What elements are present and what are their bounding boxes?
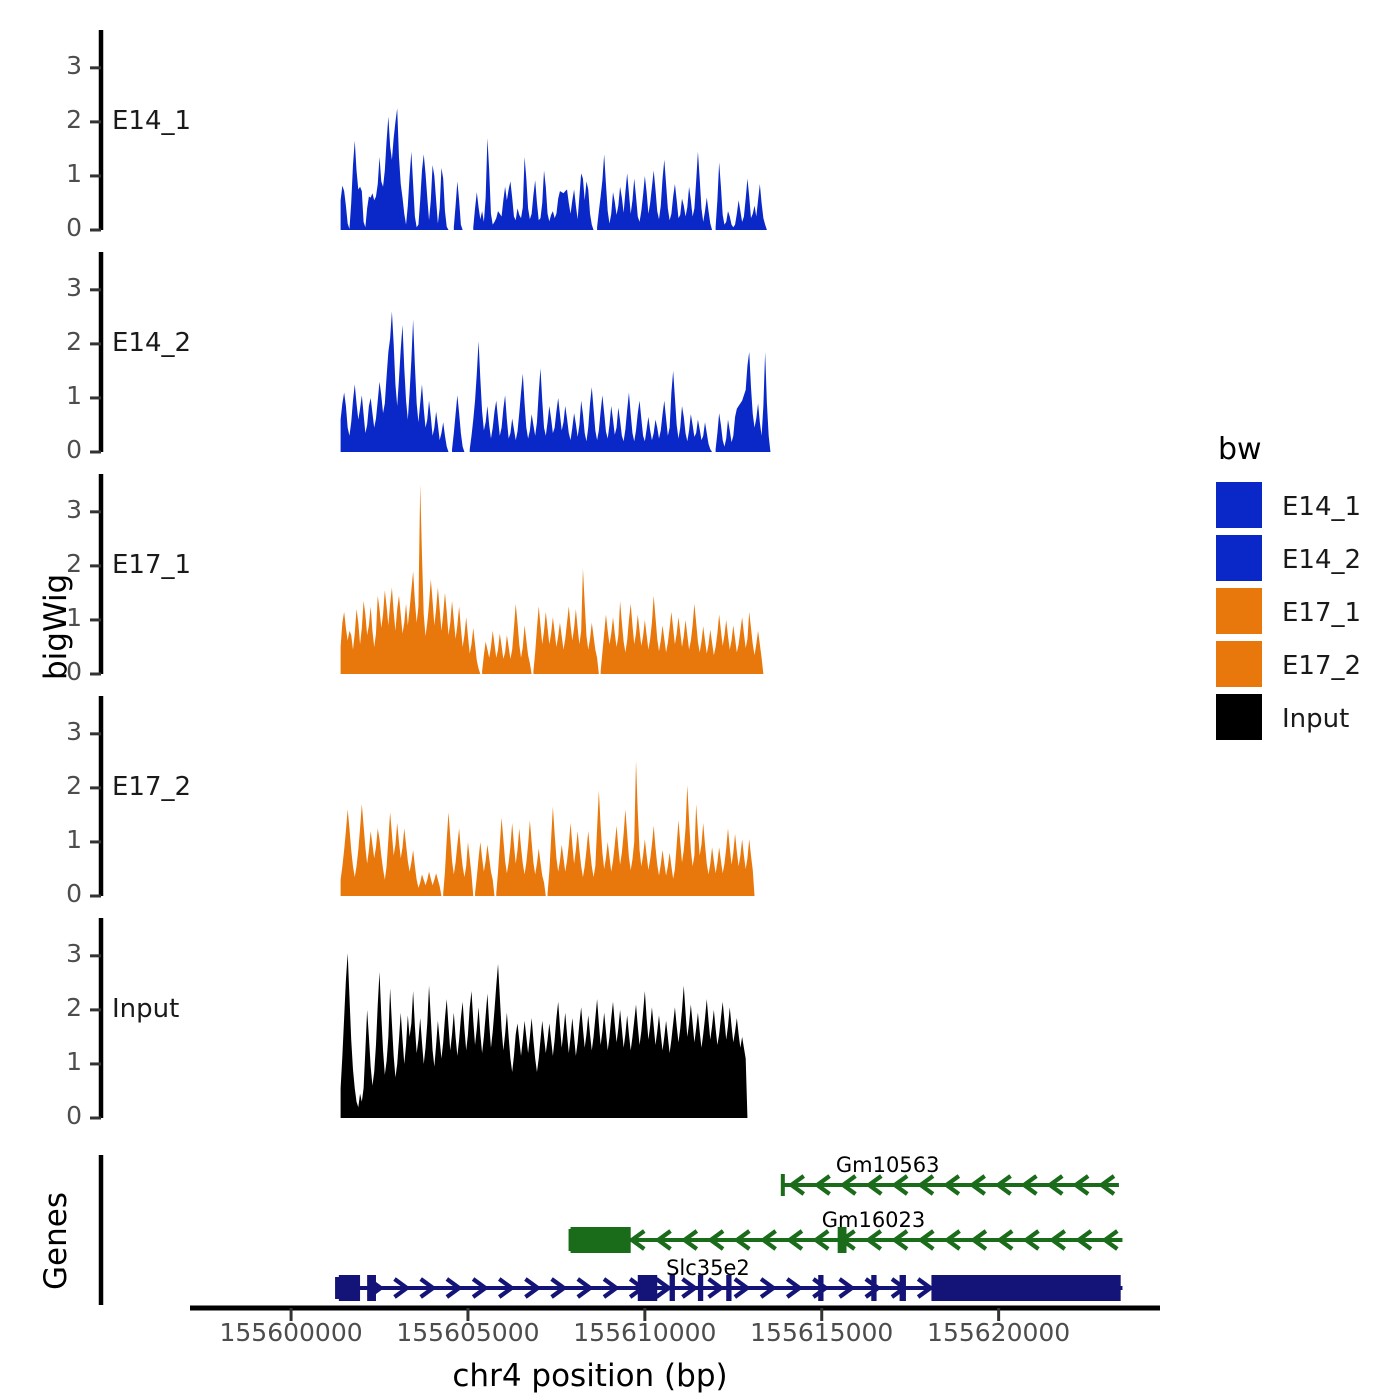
bigwig-area-e14_2 (341, 311, 771, 452)
x-axis-title: chr4 position (bp) (0, 1358, 1180, 1394)
y-tick-label: 3 (40, 495, 82, 524)
y-tick-label: 0 (40, 1101, 82, 1130)
x-tick-label: 155620000 (879, 1318, 1119, 1347)
gene-exon (818, 1275, 823, 1301)
bigwig-track-e14_2 (0, 252, 1400, 472)
y-tick-label: 3 (40, 717, 82, 746)
bigwig-track-e14_1 (0, 30, 1400, 250)
legend-title: bw (1218, 432, 1262, 467)
legend-label-e14_2[interactable]: E14_2 (1282, 545, 1361, 575)
legend-swatch-e14_1[interactable] (1216, 482, 1262, 528)
track-label-e14_2: E14_2 (112, 328, 191, 358)
y-tick-label: 0 (40, 213, 82, 242)
legend-swatch-input[interactable] (1216, 694, 1262, 740)
gene-exon (638, 1275, 657, 1301)
y-tick-label: 1 (40, 159, 82, 188)
y-tick-label: 2 (40, 327, 82, 356)
y-tick-label: 1 (40, 381, 82, 410)
gene-exon (339, 1275, 360, 1301)
genes-track (0, 1155, 1400, 1340)
gene-gm10563[interactable] (783, 1174, 1119, 1196)
legend-swatch-e17_1[interactable] (1216, 588, 1262, 634)
track-label-e17_1: E17_1 (112, 550, 191, 580)
legend-label-e14_1[interactable]: E14_1 (1282, 492, 1361, 522)
genome-browser-figure: 0123E14_10123E14_20123E17_10123E17_20123… (0, 0, 1400, 1400)
gene-exon (571, 1227, 631, 1253)
bigwig-area-input (341, 953, 748, 1118)
track-label-e14_1: E14_1 (112, 106, 191, 136)
y-tick-label: 3 (40, 273, 82, 302)
legend-swatch-e14_2[interactable] (1216, 535, 1262, 581)
y-tick-label: 2 (40, 105, 82, 134)
y-tick-label: 1 (40, 1047, 82, 1076)
gene-exon (871, 1275, 876, 1301)
y-tick-label: 0 (40, 879, 82, 908)
gene-label-gm10563: Gm10563 (836, 1153, 940, 1177)
gene-exon (931, 1275, 1120, 1301)
genes-group-label: Genes (38, 1192, 74, 1290)
y-tick-label: 3 (40, 939, 82, 968)
bigwig-track-e17_1 (0, 474, 1400, 694)
gene-exon (900, 1275, 906, 1301)
y-tick-label: 0 (40, 435, 82, 464)
bigwig-track-input (0, 918, 1400, 1138)
bigwig-area-e17_2 (341, 761, 755, 896)
bigwig-area-e14_1 (341, 108, 767, 230)
gene-label-slc35e2: Slc35e2 (666, 1256, 750, 1280)
bigwig-track-e17_2 (0, 696, 1400, 916)
track-label-input: Input (112, 994, 179, 1024)
legend-label-input[interactable]: Input (1282, 704, 1349, 734)
y-tick-label: 2 (40, 993, 82, 1022)
y-tick-label: 2 (40, 771, 82, 800)
y-axis-group-label: bigWig (38, 574, 74, 680)
y-tick-label: 1 (40, 825, 82, 854)
gene-label-gm16023: Gm16023 (822, 1208, 926, 1232)
legend-swatch-e17_2[interactable] (1216, 641, 1262, 687)
y-tick-label: 3 (40, 51, 82, 80)
legend-label-e17_2[interactable]: E17_2 (1282, 651, 1361, 681)
bigwig-area-e17_1 (341, 485, 764, 674)
legend-label-e17_1[interactable]: E17_1 (1282, 598, 1361, 628)
track-label-e17_2: E17_2 (112, 772, 191, 802)
gene-exon (367, 1275, 376, 1301)
